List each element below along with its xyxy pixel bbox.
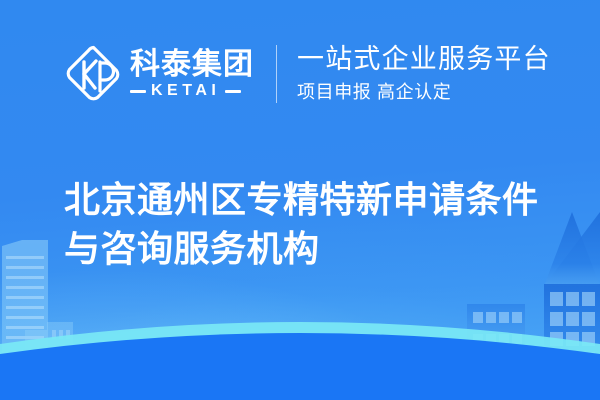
logo-rule-right-icon [225, 90, 241, 93]
brand-name-cn: 科泰集团 [130, 49, 254, 81]
logo-rule-left-icon [130, 90, 146, 93]
tagline-primary: 一站式企业服务平台 [297, 44, 551, 76]
promo-banner: 科泰集团 KETAI 一站式企业服务平台 项目申报 高企认定 北京通州区专精特新… [0, 0, 600, 400]
banner-header: 科泰集团 KETAI 一站式企业服务平台 项目申报 高企认定 [62, 38, 551, 110]
brand-tagline: 一站式企业服务平台 项目申报 高企认定 [297, 44, 551, 103]
brand-logo[interactable]: 科泰集团 KETAI [62, 43, 254, 105]
page-title: 北京通州区专精特新申请条件与咨询服务机构 [64, 176, 542, 274]
brand-logo-text: 科泰集团 KETAI [130, 49, 254, 100]
bottom-curved-wave-icon [0, 310, 600, 400]
vertical-divider-icon [276, 45, 277, 103]
brand-name-en-row: KETAI [130, 83, 254, 99]
ketai-diamond-kp-logo-icon [62, 43, 124, 105]
tagline-secondary: 项目申报 高企认定 [297, 81, 551, 104]
brand-name-en: KETAI [151, 83, 220, 99]
